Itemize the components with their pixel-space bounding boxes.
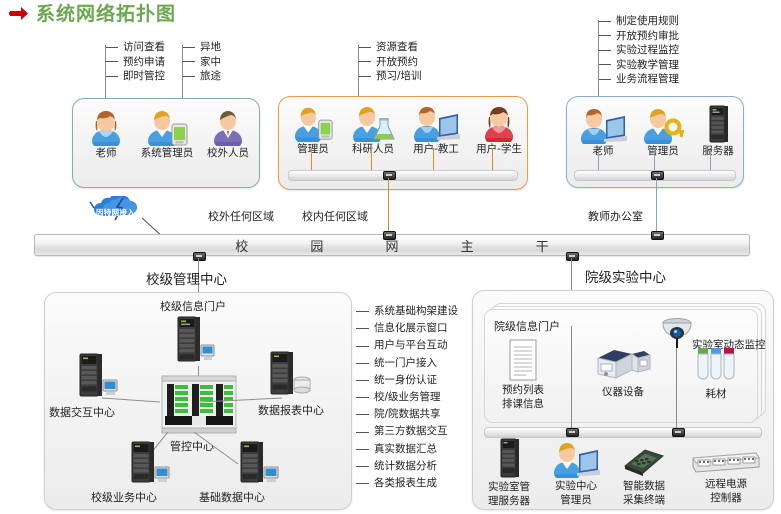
device-label-line1: 实验中心 (555, 480, 597, 492)
admin-mobile-icon (292, 104, 334, 142)
actor-label: 校外人员 (207, 147, 249, 159)
anno-text: 预约申请 (123, 55, 165, 70)
leader-line (105, 45, 106, 105)
admin-mobile-icon (145, 108, 189, 146)
item-booking-list[interactable]: 预约列表 排课信息 (502, 338, 544, 410)
school-portal-label: 校级信息门户 (160, 298, 226, 314)
actor-label: 管理员 (297, 143, 329, 155)
rail-on-campus (288, 170, 518, 181)
server-icon (496, 437, 522, 479)
leader-line (182, 45, 183, 105)
device-label-line2: 控制器 (710, 492, 742, 504)
anno-text: 开放预约审批 (616, 29, 679, 44)
topology-diagram: 系统网络拓扑图 访问查看 预约申请 即时管控 异地 家中 旅途 老师 (0, 0, 781, 514)
anno-text: 预习/培训 (376, 69, 422, 84)
annotations-off-campus-left: 访问查看 预约申请 即时管控 (105, 40, 165, 84)
camera-icon (658, 316, 696, 350)
user-laptop-icon (411, 104, 461, 142)
feature-text: 真实数据汇总 (374, 441, 437, 458)
zone-label-off-campus: 校外任何区域 (208, 208, 274, 224)
internet-cloud-label: 因特网接入 (96, 207, 135, 218)
device-data-terminal[interactable]: 智能数据 采集终端 (621, 446, 667, 506)
feature-text: 第三方数据交互 (374, 423, 448, 440)
actor-user-student[interactable]: 用户-学生 (468, 104, 530, 155)
device-label-line2: 采集终端 (623, 494, 665, 506)
actor-link (710, 150, 711, 170)
anno-text: 业务流程管理 (616, 72, 679, 87)
anno-text: 实验教学管理 (616, 58, 679, 73)
item-label-line1: 预约列表 (502, 384, 544, 396)
power-controller-icon (690, 450, 762, 476)
anno-text: 制定使用规则 (616, 14, 679, 29)
teacher-laptop-icon (578, 106, 628, 144)
feature-text: 各类报表生成 (374, 475, 437, 492)
anno-text: 异地 (200, 40, 221, 55)
lab-camera[interactable] (658, 316, 696, 354)
item-label-line1: 耗材 (706, 388, 727, 400)
faculty-center-title: 院级实验中心 (585, 266, 666, 286)
node-label: 校级业务中心 (91, 489, 157, 505)
actor-researcher[interactable]: 科研人员 (342, 104, 404, 155)
feature-text: 校/级业务管理 (374, 389, 441, 406)
document-icon (506, 338, 540, 382)
actor-label: 科研人员 (352, 143, 394, 155)
actor-link (654, 150, 655, 170)
device-power-controller[interactable]: 远程电源 控制器 (690, 450, 762, 504)
feature-text: 统计数据分析 (374, 458, 437, 475)
portal-rail-link (571, 326, 572, 428)
anno-text: 资源查看 (376, 40, 418, 55)
node-school-business-center[interactable] (128, 440, 174, 492)
actor-link (433, 148, 434, 170)
leader-line (358, 45, 359, 103)
page-title-text: 系统网络拓扑图 (36, 4, 176, 24)
student-icon (482, 104, 516, 142)
actor-teacher[interactable]: 老师 (572, 106, 634, 157)
feature-text: 系统基础构架建设 (374, 303, 458, 320)
device-label-line1: 远程电源 (705, 478, 747, 490)
feature-text: 院/院数据共享 (374, 406, 441, 423)
actor-label: 老师 (96, 147, 117, 159)
item-label-line2: 排课信息 (502, 398, 544, 410)
anno-text: 即时管控 (123, 69, 165, 84)
backbone-node-teacher-office (651, 231, 664, 240)
feature-text: 统一身份认证 (374, 372, 437, 389)
device-label-line2: 管理员 (560, 494, 592, 506)
server-disk-icon (267, 350, 315, 404)
actor-teacher[interactable]: 老师 (78, 108, 134, 159)
feature-text: 统一门户接入 (374, 355, 437, 372)
rail-node (566, 428, 579, 437)
server-icon (706, 104, 730, 144)
consumable-icon (694, 344, 738, 386)
school-center-title: 校级管理中心 (146, 268, 227, 288)
actor-system-admin[interactable]: 系统管理员 (134, 108, 200, 159)
item-instruments[interactable]: 仪器设备 (592, 344, 654, 398)
admin-key-icon (641, 106, 685, 144)
group-to-backbone-link (656, 178, 657, 236)
actor-link (311, 148, 312, 170)
anno-text: 旅途 (200, 69, 221, 84)
data-terminal-icon (621, 446, 667, 478)
actor-user-staff[interactable]: 用户-教工 (404, 104, 468, 155)
server-pc-icon (128, 440, 174, 492)
actor-server[interactable]: 服务器 (692, 104, 744, 157)
backbone-node-school-center (193, 252, 206, 261)
node-label: 基础数据中心 (199, 489, 265, 505)
actor-label: 用户-教工 (413, 143, 459, 155)
admin-laptop-icon (551, 440, 601, 478)
device-label-line1: 实验室管 (488, 481, 530, 493)
instrument-icon (592, 344, 654, 384)
anno-text: 实验过程监控 (616, 43, 679, 58)
rail-node (383, 171, 396, 180)
researcher-icon (350, 104, 396, 142)
zone-label-on-campus: 校内任何区域 (302, 208, 368, 224)
device-lab-server[interactable]: 实验室管 理服务器 (488, 437, 530, 507)
outsider-icon (211, 108, 245, 146)
zone-label-teacher-office: 教师办公室 (588, 208, 643, 224)
rail-node (672, 428, 685, 437)
actor-admin[interactable]: 管理员 (634, 106, 692, 157)
node-data-exchange-center[interactable] (76, 352, 122, 406)
item-consumables[interactable]: 耗材 (694, 344, 738, 400)
device-lab-admin[interactable]: 实验中心 管理员 (551, 440, 601, 506)
school-center-features: 系统基础构架建设 信息化展示窗口 用户与平台互动 统一门户接入 统一身份认证 校… (356, 303, 458, 492)
group-to-backbone-link (388, 178, 389, 234)
node-base-data-center[interactable] (237, 440, 283, 492)
annotations-teacher-office: 制定使用规则 开放预约审批 实验过程监控 实验教学管理 业务流程管理 (598, 14, 679, 87)
teacher-female-icon (89, 108, 123, 146)
camera-rail-link (676, 348, 677, 428)
annotations-off-campus-right: 异地 家中 旅途 (182, 40, 221, 84)
device-label-line1: 智能数据 (623, 480, 665, 492)
actor-link (598, 150, 599, 170)
backbone-node-faculty-center (566, 252, 579, 261)
actors-on-campus: 管理员 科研人员 (284, 104, 530, 155)
node-data-report-center[interactable] (267, 350, 315, 404)
anno-text: 访问查看 (123, 40, 165, 55)
backbone-node-on-campus (383, 231, 396, 240)
node-label: 数据交互中心 (49, 404, 115, 420)
arrow-right-icon (8, 4, 30, 24)
actor-label: 服务器 (702, 145, 734, 157)
device-label-line2: 理服务器 (488, 495, 530, 507)
actor-label: 老师 (593, 145, 614, 157)
faculty-portal-label: 院级信息门户 (494, 318, 560, 334)
rail-node (651, 171, 664, 180)
actor-label: 系统管理员 (141, 147, 194, 159)
page-title: 系统网络拓扑图 (8, 4, 176, 24)
feature-text: 用户与平台互动 (374, 337, 448, 354)
anno-text: 家中 (200, 55, 221, 70)
actor-admin[interactable]: 管理员 (284, 104, 342, 155)
anno-text: 开放预约 (376, 55, 418, 70)
actors-off-campus: 老师 系统管理员 校外人员 (78, 108, 256, 159)
actor-link (371, 148, 372, 170)
actor-outsider[interactable]: 校外人员 (200, 108, 256, 159)
actor-link (492, 148, 493, 170)
leader-line (598, 20, 599, 102)
feature-text: 信息化展示窗口 (374, 320, 448, 337)
server-pc-icon (237, 440, 283, 492)
server-pc-icon (76, 352, 122, 406)
node-label: 数据报表中心 (258, 402, 324, 418)
actor-label: 用户-学生 (476, 143, 522, 155)
actor-label: 管理员 (647, 145, 679, 157)
item-label-line1: 仪器设备 (602, 386, 644, 398)
annotations-on-campus: 资源查看 开放预约 预习/培训 (358, 40, 422, 84)
